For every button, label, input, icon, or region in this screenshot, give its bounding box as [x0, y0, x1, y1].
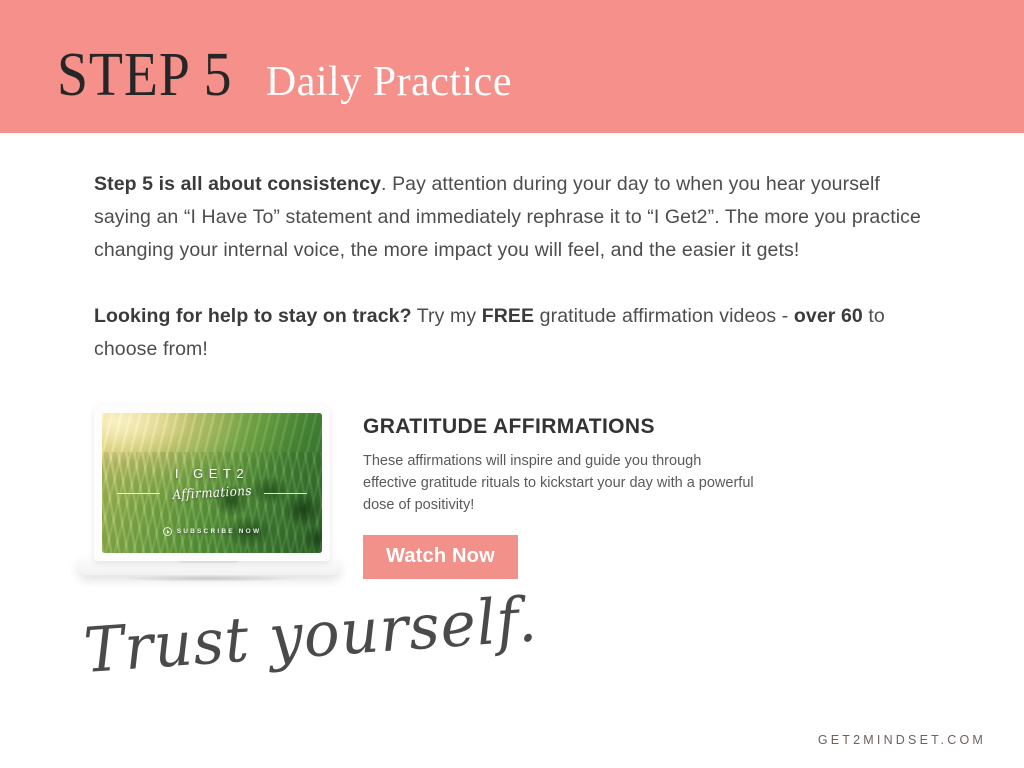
page-title: STEP 5: [57, 46, 232, 105]
video-overlay-script: Affirmations: [172, 483, 252, 502]
video-overlay-script-row: Affirmations: [117, 486, 306, 501]
promo-row: I GET2 Affirmations SUBSCRIBE NOW GRATIT…: [78, 405, 778, 585]
body-copy: Step 5 is all about consistency. Pay att…: [94, 168, 924, 366]
laptop-shadow: [84, 574, 334, 583]
footer-website-url: GET2MINDSET.COM: [818, 733, 986, 747]
paragraph2-mid2: gratitude affirmation videos -: [534, 305, 794, 327]
play-circle-icon: [163, 527, 172, 536]
overlay-rule-right: [264, 493, 306, 494]
overlay-rule-left: [117, 493, 159, 494]
paragraph-offer: Looking for help to stay on track? Try m…: [94, 300, 924, 366]
signature-script: Trust yourself.: [81, 582, 539, 687]
video-overlay: I GET2 Affirmations SUBSCRIBE NOW: [102, 413, 322, 553]
laptop-lid: I GET2 Affirmations SUBSCRIBE NOW: [94, 405, 330, 561]
paragraph2-mid1: Try my: [412, 305, 482, 327]
video-overlay-title: I GET2: [175, 466, 249, 481]
paragraph-consistency: Step 5 is all about consistency. Pay att…: [94, 168, 924, 267]
paragraph2-bold-lead: Looking for help to stay on track?: [94, 305, 412, 327]
laptop-thumbnail[interactable]: I GET2 Affirmations SUBSCRIBE NOW: [78, 405, 340, 585]
promo-heading: GRATITUDE AFFIRMATIONS: [363, 415, 758, 439]
subscribe-badge[interactable]: SUBSCRIBE NOW: [102, 527, 322, 536]
paragraph1-bold-lead: Step 5 is all about consistency: [94, 173, 381, 195]
promo-card: GRATITUDE AFFIRMATIONS These affirmation…: [363, 405, 758, 579]
subscribe-label: SUBSCRIBE NOW: [177, 528, 262, 535]
promo-description: These affirmations will inspire and guid…: [363, 450, 758, 516]
paragraph2-bold-free: FREE: [482, 305, 534, 327]
laptop-screen[interactable]: I GET2 Affirmations SUBSCRIBE NOW: [102, 413, 322, 553]
watch-now-button[interactable]: Watch Now: [363, 535, 518, 579]
paragraph2-bold-over60: over 60: [794, 305, 863, 327]
header-title-group: STEP 5 Daily Practice: [57, 46, 512, 105]
header-band: STEP 5 Daily Practice: [0, 0, 1024, 133]
page-subtitle: Daily Practice: [266, 61, 512, 103]
